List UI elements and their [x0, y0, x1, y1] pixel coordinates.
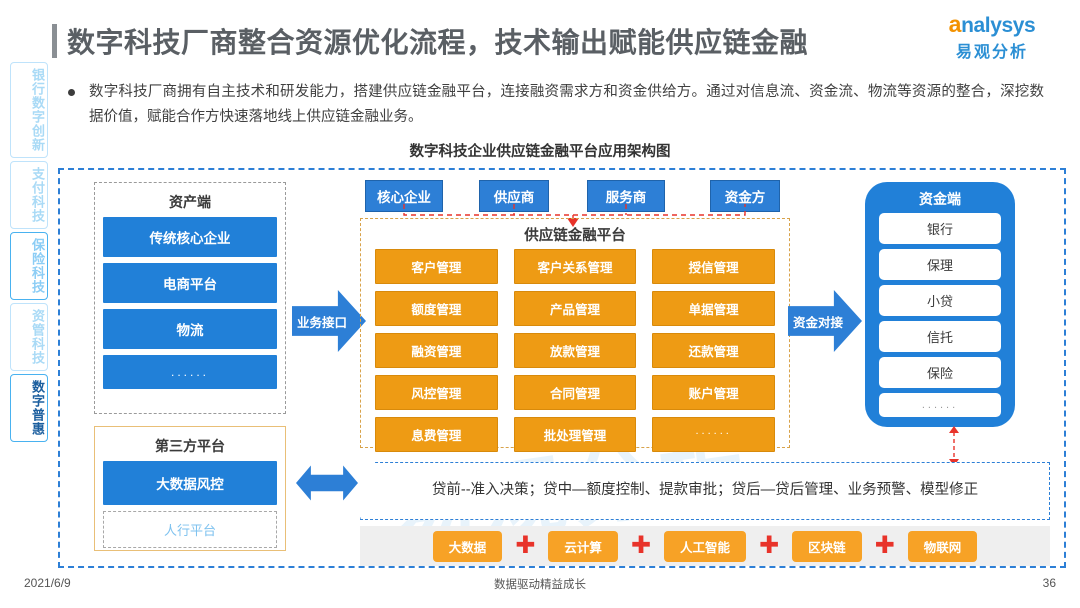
credit-lifecycle-text: 贷前--准入决策；贷中—额度控制、提款审批；贷后—贷后管理、业务预警、模型修正: [406, 480, 1004, 501]
asset-end-title: 资产端: [103, 188, 277, 217]
supply-chain-finance-platform-group: 供应链金融平台 客户管理 客户关系管理 授信管理 额度管理 产品管理 单据管理 …: [360, 218, 790, 448]
side-tab-list: 银行数字创新 支付科技 保险科技 资管科技 数字普惠: [10, 62, 48, 442]
page-title-text: 数字科技厂商整合资源优化流程，技术输出赋能供应链金融: [67, 21, 808, 61]
platform-module-batch-processing[interactable]: 批处理管理: [514, 417, 637, 452]
third-party-platform-title: 第三方平台: [103, 432, 277, 461]
side-tab-asset-management-tech[interactable]: 资管科技: [10, 303, 48, 371]
fund-item-micro-loan: 小贷: [879, 285, 1001, 316]
side-tab-payment-tech[interactable]: 支付科技: [10, 161, 48, 229]
third-party-item-pboc-platform: 人行平台: [103, 511, 277, 548]
plus-icon-2: ✚: [618, 534, 664, 558]
logo-swoosh-icon: a: [949, 11, 961, 37]
platform-module-grid: 客户管理 客户关系管理 授信管理 额度管理 产品管理 单据管理 融资管理 放款管…: [361, 249, 789, 452]
bidirectional-arrow-icon: [296, 460, 358, 506]
fund-end-group: 资金端 银行 保理 小贷 信托 保险 ......: [865, 182, 1015, 427]
platform-module-customer-management[interactable]: 客户管理: [375, 249, 498, 284]
platform-module-document-management[interactable]: 单据管理: [652, 291, 775, 326]
platform-module-financing-management[interactable]: 融资管理: [375, 333, 498, 368]
business-interface-arrow-icon: 业务接口: [292, 290, 366, 352]
fund-docking-arrow-icon: 资金对接: [788, 290, 862, 352]
fund-item-trust: 信托: [879, 321, 1001, 352]
role-box-service-provider: 服务商: [587, 180, 665, 212]
logo-wordmark-text: nalysys: [961, 14, 1035, 37]
platform-module-crm[interactable]: 客户关系管理: [514, 249, 637, 284]
platform-module-risk-control[interactable]: 风控管理: [375, 375, 498, 410]
asset-item-more: ......: [103, 355, 277, 389]
tech-chip-artificial-intelligence[interactable]: 人工智能: [664, 531, 746, 562]
plus-icon-3: ✚: [746, 534, 792, 558]
platform-module-credit-granting[interactable]: 授信管理: [652, 249, 775, 284]
tech-chip-iot[interactable]: 物联网: [908, 531, 978, 562]
slide-footer: 2021/6/9 数据驱动精益成长 36: [0, 576, 1080, 598]
role-box-supplier: 供应商: [479, 180, 549, 212]
platform-module-more: ......: [652, 417, 775, 452]
role-box-fund-provider: 资金方: [710, 180, 780, 212]
side-tab-digital-inclusive-finance[interactable]: 数字普惠: [10, 374, 48, 442]
page-title: 数字科技厂商整合资源优化流程，技术输出赋能供应链金融: [52, 18, 922, 64]
logo-subtitle: 易观分析: [926, 38, 1058, 62]
bullet-dot-icon: [68, 89, 75, 96]
footer-page-number: 36: [1043, 576, 1056, 590]
vertical-bidirectional-arrow-icon: [945, 426, 963, 466]
fund-item-more: ......: [879, 393, 1001, 417]
title-accent-bar: [52, 24, 57, 58]
bullet-paragraph: 数字科技厂商拥有自主技术和研发能力，搭建供应链金融平台，连接融资需求方和资金供给…: [60, 80, 1060, 131]
asset-item-logistics: 物流: [103, 309, 277, 349]
fund-item-insurance: 保险: [879, 357, 1001, 388]
platform-module-repayment-management[interactable]: 还款管理: [652, 333, 775, 368]
platform-module-loan-disbursement[interactable]: 放款管理: [514, 333, 637, 368]
platform-module-contract-management[interactable]: 合同管理: [514, 375, 637, 410]
plus-icon-4: ✚: [862, 534, 908, 558]
platform-module-interest-fee-management[interactable]: 息费管理: [375, 417, 498, 452]
side-tab-bank-digital-innovation[interactable]: 银行数字创新: [10, 62, 48, 158]
plus-icon-1: ✚: [502, 534, 548, 558]
credit-lifecycle-band: 贷前--准入决策；贷中—额度控制、提款审批；贷后—贷后管理、业务预警、模型修正: [360, 462, 1050, 520]
asset-item-ecommerce-platform: 电商平台: [103, 263, 277, 303]
role-box-core-enterprise: 核心企业: [365, 180, 443, 212]
footer-slogan: 数据驱动精益成长: [0, 576, 1080, 592]
tech-chip-blockchain[interactable]: 区块链: [792, 531, 862, 562]
logo-wordmark: analysys: [926, 12, 1058, 37]
platform-module-account-management[interactable]: 账户管理: [652, 375, 775, 410]
fund-docking-arrow-label: 资金对接: [793, 312, 843, 331]
asset-item-traditional-core-enterprise: 传统核心企业: [103, 217, 277, 257]
figure-caption: 数字科技企业供应链金融平台应用架构图: [0, 140, 1080, 161]
fund-end-title: 资金端: [879, 186, 1001, 213]
architecture-diagram: 易观分析 资产端 传统核心企业 电商平台 物流 ...... 第三方平台 大数据…: [58, 168, 1066, 568]
third-party-item-big-data-risk-control: 大数据风控: [103, 461, 277, 505]
bullet-text: 数字科技厂商拥有自主技术和研发能力，搭建供应链金融平台，连接融资需求方和资金供给…: [89, 80, 1044, 131]
platform-module-product-management[interactable]: 产品管理: [514, 291, 637, 326]
fund-item-factoring: 保理: [879, 249, 1001, 280]
side-tab-insurance-tech[interactable]: 保险科技: [10, 232, 48, 300]
tech-chip-cloud-computing[interactable]: 云计算: [548, 531, 618, 562]
business-interface-arrow-label: 业务接口: [297, 312, 347, 331]
analysys-logo: analysys 易观分析: [926, 12, 1058, 62]
platform-title: 供应链金融平台: [361, 219, 789, 249]
third-party-platform-group: 第三方平台 大数据风控 人行平台: [94, 426, 286, 551]
tech-chip-big-data[interactable]: 大数据: [433, 531, 503, 562]
platform-module-quota-management[interactable]: 额度管理: [375, 291, 498, 326]
asset-end-group: 资产端 传统核心企业 电商平台 物流 ......: [94, 182, 286, 414]
fund-item-bank: 银行: [879, 213, 1001, 244]
technology-stack-bar: 大数据 ✚ 云计算 ✚ 人工智能 ✚ 区块链 ✚ 物联网: [360, 526, 1050, 566]
